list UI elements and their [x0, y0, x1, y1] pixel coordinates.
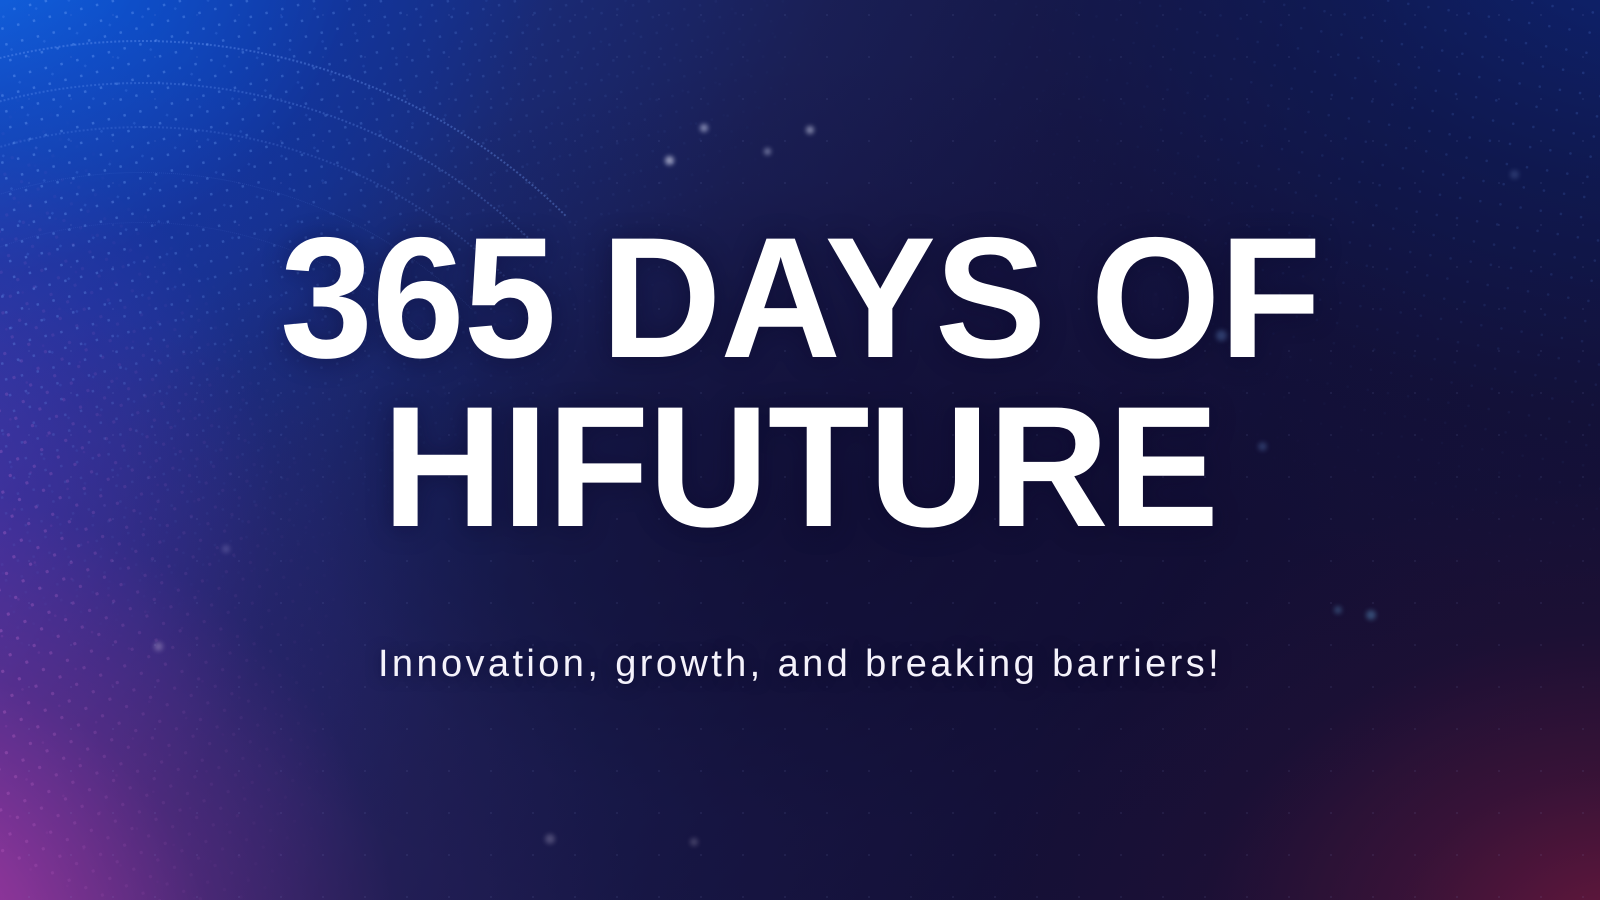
promo-banner: 365 DAYS OF HIFUTURE Innovation, growth,… — [0, 0, 1600, 900]
banner-subtitle: Innovation, growth, and breaking barrier… — [378, 643, 1222, 686]
headline-line-2: HIFUTURE — [280, 383, 1320, 552]
banner-content: 365 DAYS OF HIFUTURE Innovation, growth,… — [0, 0, 1600, 900]
banner-headline: 365 DAYS OF HIFUTURE — [241, 214, 1359, 551]
headline-line-1: 365 DAYS OF — [280, 214, 1320, 383]
